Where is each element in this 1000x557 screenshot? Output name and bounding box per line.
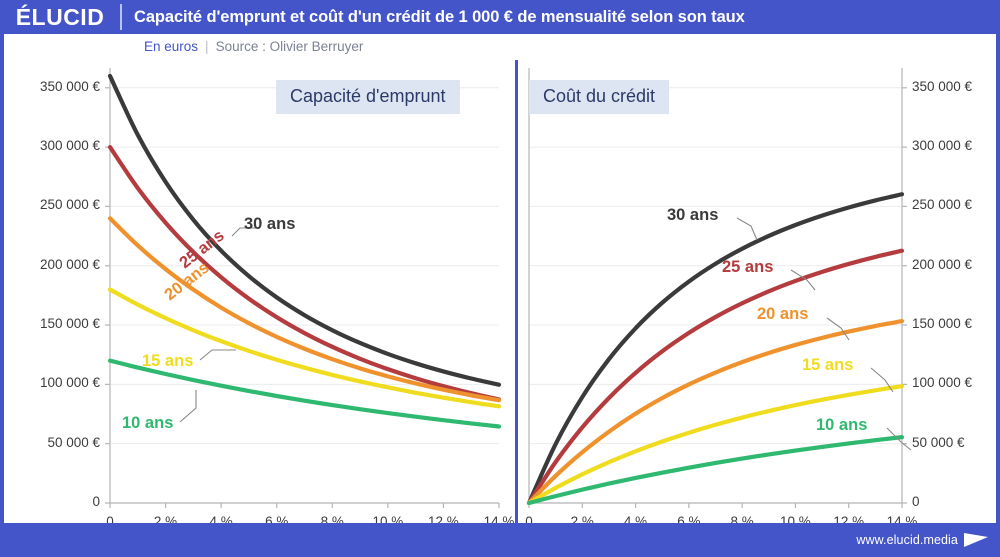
series-line-25-ans [529,251,902,503]
series-label-25-ans: 25 ans [722,258,773,277]
y-axis-tick-label: 0 [92,494,100,509]
series-line-30-ans [110,76,499,385]
leader-line [200,350,236,360]
y-axis-tick-label: 250 000 € [40,197,100,212]
y-axis-tick-label: 150 000 € [912,316,972,331]
logo-divider [120,4,122,30]
y-axis-tick-label: 350 000 € [40,79,100,94]
leader-line [737,218,757,240]
footer-url: www.elucid.media [856,533,958,547]
charts-container: Capacité d'emprunt 050 000 €100 000 €150… [4,60,996,523]
y-axis-tick-label: 50 000 € [47,435,100,450]
y-axis-tick-label: 300 000 € [40,138,100,153]
y-axis-tick-label: 100 000 € [912,375,972,390]
subheader-separator: | [205,39,209,54]
y-axis-tick-label: 300 000 € [912,138,972,153]
series-label-10-ans: 10 ans [122,414,173,433]
series-line-20-ans [529,321,902,503]
chart-panel-cout: Coût du crédit 050 000 €100 000 €150 000… [519,60,996,523]
series-label-15-ans: 15 ans [142,352,193,371]
elucid-logo: ÉLUCID [0,0,120,34]
series-label-20-ans: 20 ans [757,305,808,324]
source-label: Source : Olivier Berruyer [216,39,364,54]
infographic-page: ÉLUCID Capacité d'emprunt et coût d'un c… [0,0,1000,557]
leader-line [180,390,196,422]
chart-capacite-plot [4,60,517,523]
y-axis-tick-label: 350 000 € [912,79,972,94]
page-header: ÉLUCID Capacité d'emprunt et coût d'un c… [0,0,1000,34]
y-axis-tick-label: 100 000 € [40,375,100,390]
chart-body: En euros | Source : Olivier Berruyer Cap… [4,34,996,523]
chart-cout-plot [519,60,996,523]
subheader: En euros | Source : Olivier Berruyer [144,39,363,54]
chart-panel-capacite: Capacité d'emprunt 050 000 €100 000 €150… [4,60,517,523]
page-title: Capacité d'emprunt et coût d'un crédit d… [134,8,745,27]
y-axis-tick-label: 150 000 € [40,316,100,331]
series-label-10-ans: 10 ans [816,416,867,435]
y-axis-tick-label: 200 000 € [40,257,100,272]
unit-label: En euros [144,39,198,54]
series-line-30-ans [529,194,902,503]
y-axis-tick-label: 0 [912,494,920,509]
y-axis-tick-label: 200 000 € [912,257,972,272]
y-axis-tick-label: 50 000 € [912,435,965,450]
series-line-10-ans [529,437,902,503]
y-axis-tick-label: 250 000 € [912,197,972,212]
series-label-30-ans: 30 ans [244,215,295,234]
series-label-15-ans: 15 ans [802,356,853,375]
panel-divider [515,60,518,523]
page-footer: www.elucid.media [0,523,1000,557]
chart-title-cout: Coût du crédit [529,80,669,114]
elucid-arrow-icon [964,533,990,547]
series-label-30-ans: 30 ans [667,206,718,225]
chart-title-capacite: Capacité d'emprunt [276,80,460,114]
